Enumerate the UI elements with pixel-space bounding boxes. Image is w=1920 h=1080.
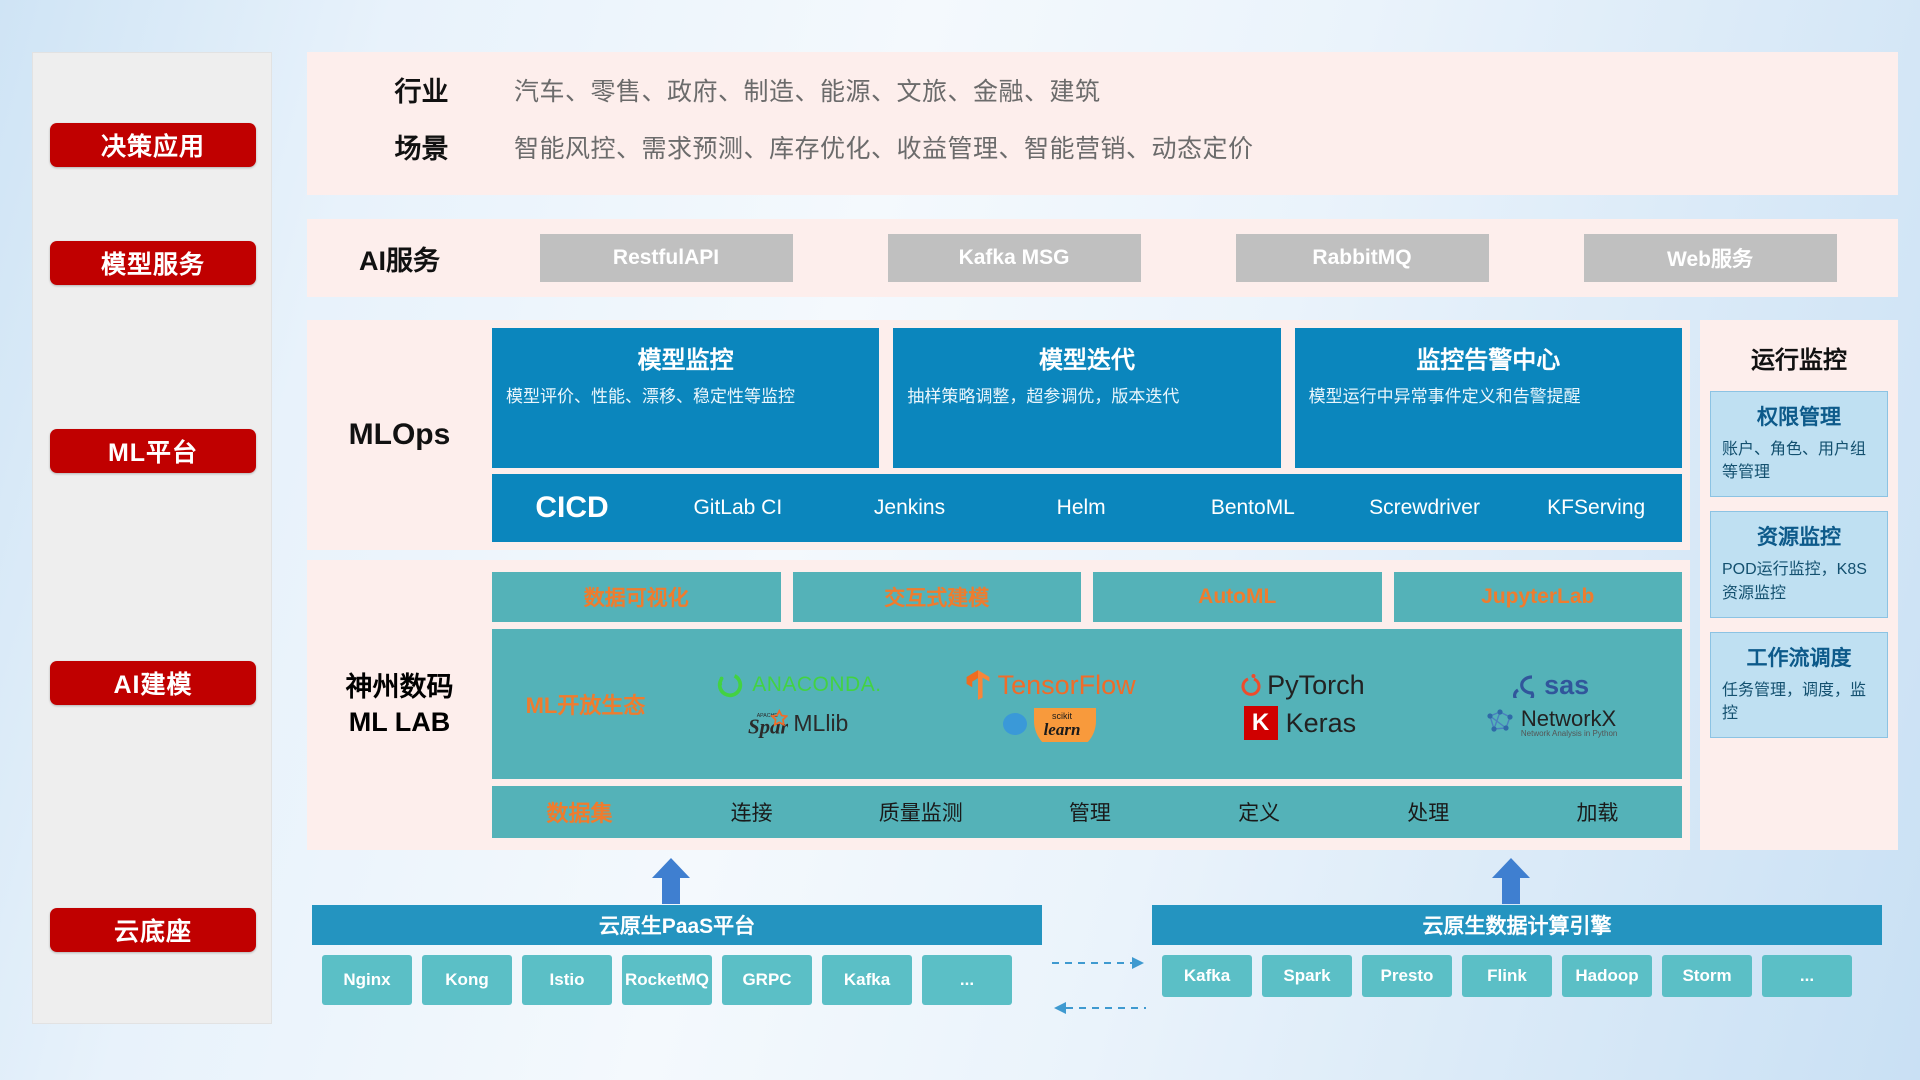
diagram-canvas: 决策应用 模型服务 ML平台 AI建模 云底座 行业 汽车、零售、政府、制造、能…: [0, 0, 1920, 1080]
ml-ecosystem-label: ML开放生态: [498, 688, 673, 720]
sas-logo: sas: [1512, 670, 1589, 701]
spark-icon: Spark APACHE: [748, 706, 788, 740]
card-title: 权限管理: [1722, 401, 1876, 431]
paas-up-arrow: [650, 858, 692, 904]
dataset-item-process[interactable]: 处理: [1344, 797, 1513, 827]
keras-wordmark: Keras: [1286, 708, 1357, 739]
data-to-paas-arrow: [1052, 1000, 1146, 1021]
data-chip-spark[interactable]: Spark: [1262, 955, 1352, 997]
card-title: 资源监控: [1722, 521, 1876, 551]
anaconda-logo: ANACONDA.: [715, 670, 881, 700]
monitor-card-permission[interactable]: 权限管理 账户、角色、用户组等管理: [1710, 391, 1888, 497]
mlops-card-model-iteration[interactable]: 模型迭代 抽样策略调整，超参调优，版本迭代: [893, 328, 1280, 468]
rail-label: ML平台: [108, 433, 198, 469]
keras-logo: K Keras: [1244, 706, 1357, 740]
rail-label: 模型服务: [101, 245, 205, 281]
cicd-item-bentoml[interactable]: BentoML: [1167, 496, 1339, 520]
dataset-item-quality[interactable]: 质量监测: [836, 797, 1005, 827]
scikit-learn-logo: scikit learn: [1000, 704, 1098, 742]
ai-service-label: AI服务: [307, 239, 492, 278]
industry-key: 行业: [329, 70, 514, 109]
card-desc: 账户、角色、用户组等管理: [1722, 438, 1876, 484]
ml-lab-tab-row: 数据可视化 交互式建模 AutoML JupyterLab: [492, 572, 1682, 622]
arrow-left-dashed-icon: [1052, 1000, 1146, 1016]
tensorflow-icon: [963, 669, 993, 701]
decision-apps-band: 行业 汽车、零售、政府、制造、能源、文旅、金融、建筑 场景 智能风控、需求预测、…: [307, 52, 1898, 195]
scenario-value: 智能风控、需求预测、库存优化、收益管理、智能营销、动态定价: [514, 129, 1898, 165]
cloud-paas-chip-row: Nginx Kong Istio RocketMQ GRPC Kafka ...: [322, 955, 1012, 1005]
ml-lab-label-line1: 神州数码: [307, 670, 492, 705]
rail-item-decision-apps[interactable]: 决策应用: [50, 123, 256, 167]
data-engine-up-arrow: [1490, 858, 1532, 904]
tab-automl[interactable]: AutoML: [1093, 572, 1382, 622]
industry-value: 汽车、零售、政府、制造、能源、文旅、金融、建筑: [514, 72, 1898, 108]
cloud-data-engine-chip-row: Kafka Spark Presto Flink Hadoop Storm ..…: [1162, 955, 1852, 997]
ai-chip-web-service[interactable]: Web服务: [1584, 234, 1837, 282]
card-title: 监控告警中心: [1309, 340, 1668, 375]
cicd-bar: CICD GitLab CI Jenkins Helm BentoML Scre…: [492, 474, 1682, 542]
ai-service-chip-row: RestfulAPI Kafka MSG RabbitMQ Web服务: [492, 234, 1898, 282]
data-chip-more[interactable]: ...: [1762, 955, 1852, 997]
ml-ecosystem-panel: ML开放生态 ANACONDA.: [492, 629, 1682, 779]
pytorch-icon: [1235, 670, 1261, 700]
dataset-item-define[interactable]: 定义: [1175, 797, 1344, 827]
ml-lab-band: 神州数码 ML LAB 数据可视化 交互式建模 AutoML JupyterLa…: [307, 560, 1690, 850]
card-title: 工作流调度: [1722, 642, 1876, 672]
card-desc: POD运行监控，K8S资源监控: [1722, 558, 1876, 604]
tab-jupyterlab[interactable]: JupyterLab: [1394, 572, 1683, 622]
data-chip-presto[interactable]: Presto: [1362, 955, 1452, 997]
networkx-icon: [1484, 708, 1516, 738]
data-chip-hadoop[interactable]: Hadoop: [1562, 955, 1652, 997]
networkx-wordmark: NetworkX: [1521, 708, 1618, 730]
rail-item-ai-modeling[interactable]: AI建模: [50, 661, 256, 705]
cloud-chip-grpc[interactable]: GRPC: [722, 955, 812, 1005]
ml-lab-label-line2: ML LAB: [307, 705, 492, 740]
sas-icon: [1512, 672, 1540, 698]
cicd-item-screwdriver[interactable]: Screwdriver: [1339, 496, 1511, 520]
scenario-key: 场景: [329, 127, 514, 166]
dataset-title: 数据集: [492, 796, 667, 828]
mlops-band: MLOps 模型监控 模型评价、性能、漂移、稳定性等监控 模型迭代 抽样策略调整…: [307, 320, 1690, 550]
dataset-item-load[interactable]: 加载: [1513, 797, 1682, 827]
rail-item-cloud-base[interactable]: 云底座: [50, 908, 256, 952]
card-desc: 模型运行中异常事件定义和告警提醒: [1309, 385, 1668, 410]
cloud-paas-header: 云原生PaaS平台: [312, 905, 1042, 945]
monitor-card-resource[interactable]: 资源监控 POD运行监控，K8S资源监控: [1710, 511, 1888, 617]
card-title: 模型监控: [506, 340, 865, 375]
pytorch-wordmark: PyTorch: [1267, 670, 1365, 701]
rail-item-model-service[interactable]: 模型服务: [50, 241, 256, 285]
cicd-item-jenkins[interactable]: Jenkins: [824, 496, 996, 520]
keras-mark-icon: K: [1244, 706, 1278, 740]
arrow-right-dashed-icon: [1052, 955, 1146, 971]
spark-mllib-logo: Spark APACHE MLlib: [748, 706, 848, 740]
rail-item-ml-platform[interactable]: ML平台: [50, 429, 256, 473]
scikit-blue-blob-icon: [1000, 708, 1030, 738]
rail-label: 决策应用: [101, 127, 205, 163]
tab-interactive-modeling[interactable]: 交互式建模: [793, 572, 1082, 622]
dataset-bar: 数据集 连接 质量监测 管理 定义 处理 加载: [492, 786, 1682, 838]
ai-chip-restfulapi[interactable]: RestfulAPI: [540, 234, 793, 282]
data-chip-storm[interactable]: Storm: [1662, 955, 1752, 997]
tensorflow-wordmark: TensorFlow: [998, 670, 1136, 701]
cloud-chip-kafka[interactable]: Kafka: [822, 955, 912, 1005]
cicd-title: CICD: [492, 491, 652, 525]
card-desc: 抽样策略调整，超参调优，版本迭代: [907, 385, 1266, 410]
anaconda-wordmark: ANACONDA.: [752, 673, 881, 697]
dataset-item-manage[interactable]: 管理: [1005, 797, 1174, 827]
ai-chip-rabbitmq[interactable]: RabbitMQ: [1236, 234, 1489, 282]
cicd-item-helm[interactable]: Helm: [995, 496, 1167, 520]
card-desc: 模型评价、性能、漂移、稳定性等监控: [506, 385, 865, 410]
cloud-chip-rocketmq[interactable]: RocketMQ: [622, 955, 712, 1005]
arrow-up-icon: [1490, 858, 1532, 904]
arrow-up-icon: [650, 858, 692, 904]
cloud-chip-kong[interactable]: Kong: [422, 955, 512, 1005]
runtime-monitor-title: 运行监控: [1710, 340, 1888, 375]
ml-lab-label: 神州数码 ML LAB: [307, 670, 492, 740]
cicd-item-kfserving[interactable]: KFServing: [1510, 496, 1682, 520]
networkx-logo: NetworkX Network Analysis in Python: [1484, 708, 1618, 738]
scikit-orange-blob-icon: scikit learn: [1032, 704, 1098, 742]
pytorch-logo: PyTorch: [1235, 670, 1365, 701]
svg-text:learn: learn: [1044, 720, 1081, 739]
cloud-chip-more[interactable]: ...: [922, 955, 1012, 1005]
ai-service-band: AI服务 RestfulAPI Kafka MSG RabbitMQ Web服务: [307, 219, 1898, 297]
cloud-chip-nginx[interactable]: Nginx: [322, 955, 412, 1005]
tab-data-visualization[interactable]: 数据可视化: [492, 572, 781, 622]
anaconda-icon: [715, 670, 745, 700]
card-desc: 任务管理，调度，监控: [1722, 679, 1876, 725]
sas-wordmark: sas: [1544, 670, 1589, 701]
mlops-card-model-monitoring[interactable]: 模型监控 模型评价、性能、漂移、稳定性等监控: [492, 328, 879, 468]
networkx-tagline: Network Analysis in Python: [1521, 730, 1618, 738]
cloud-chip-istio[interactable]: Istio: [522, 955, 612, 1005]
tensorflow-logo: TensorFlow: [963, 669, 1136, 701]
rail-label: AI建模: [113, 665, 192, 701]
mlops-card-alert-center[interactable]: 监控告警中心 模型运行中异常事件定义和告警提醒: [1295, 328, 1682, 468]
ai-chip-kafka-msg[interactable]: Kafka MSG: [888, 234, 1141, 282]
cicd-item-gitlab-ci[interactable]: GitLab CI: [652, 496, 824, 520]
cloud-data-engine-header: 云原生数据计算引擎: [1152, 905, 1882, 945]
data-chip-kafka[interactable]: Kafka: [1162, 955, 1252, 997]
data-chip-flink[interactable]: Flink: [1462, 955, 1552, 997]
rail-label: 云底座: [114, 912, 192, 948]
card-title: 模型迭代: [907, 340, 1266, 375]
mlops-label: MLOps: [307, 418, 492, 452]
mllib-wordmark: MLlib: [793, 710, 848, 737]
paas-to-data-arrow: [1052, 955, 1146, 976]
runtime-monitor-panel: 运行监控 权限管理 账户、角色、用户组等管理 资源监控 POD运行监控，K8S资…: [1700, 320, 1898, 850]
dataset-item-connect[interactable]: 连接: [667, 797, 836, 827]
layer-rail: 决策应用 模型服务 ML平台 AI建模 云底座: [32, 52, 272, 1024]
monitor-card-workflow[interactable]: 工作流调度 任务管理，调度，监控: [1710, 632, 1888, 738]
